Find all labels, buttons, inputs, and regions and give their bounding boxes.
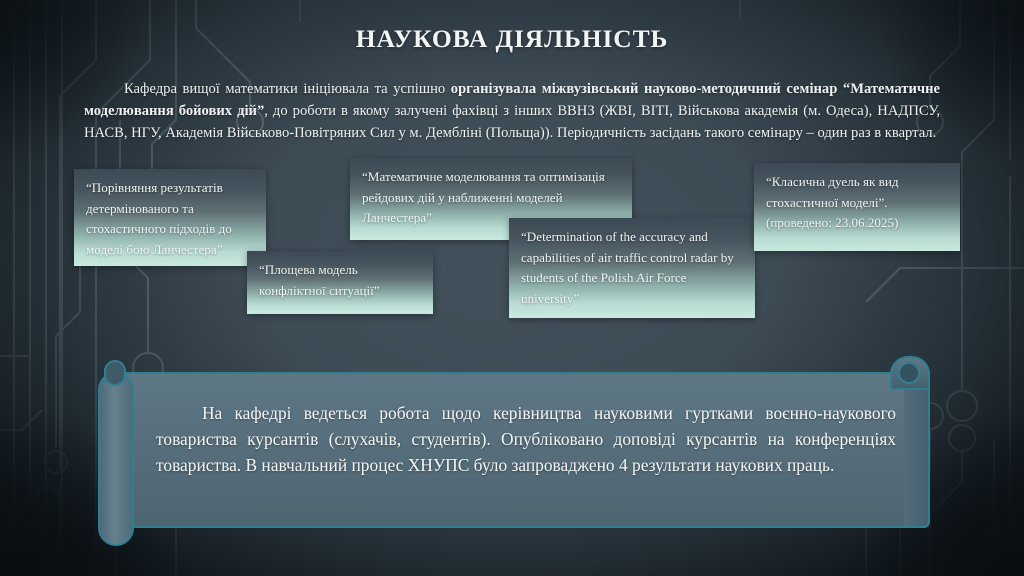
- scroll-left-curl: [98, 372, 134, 546]
- topic-card-2: “Площева модель конфліктної ситуації”: [247, 251, 433, 314]
- topic-card-1: “Порівняння результатів детермінованого …: [74, 169, 266, 266]
- topic-card-5: “Класична дуель як вид стохастичної моде…: [754, 163, 960, 251]
- topic-card-4: “Determination of the accuracy and capab…: [509, 218, 755, 318]
- intro-text-part-1: Кафедра вищої математики ініціювала та у…: [124, 81, 451, 97]
- scroll-banner: На кафедрі ведеться робота щодо керівниц…: [98, 356, 948, 546]
- presentation-slide: НАУКОВА ДІЯЛЬНІСТЬ Кафедра вищої математ…: [0, 0, 1024, 576]
- scroll-right-edge: [904, 372, 930, 528]
- intro-paragraph: Кафедра вищої математики ініціювала та у…: [84, 78, 940, 145]
- scroll-banner-text: На кафедрі ведеться робота щодо керівниц…: [156, 400, 896, 478]
- scroll-right-curl-inner: [898, 362, 920, 384]
- scroll-left-curl-inner: [104, 360, 126, 386]
- slide-title: НАУКОВА ДІЯЛЬНІСТЬ: [0, 24, 1024, 54]
